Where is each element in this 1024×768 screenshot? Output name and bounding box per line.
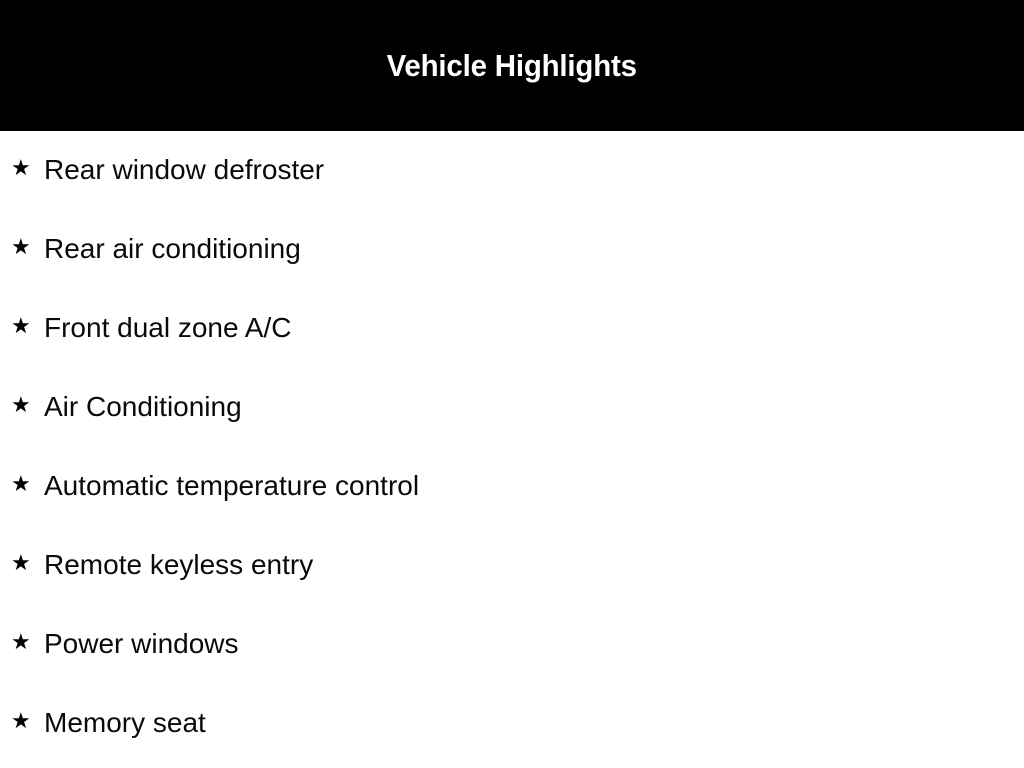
highlight-label: Memory seat [44, 707, 206, 739]
star-icon: ★ [11, 395, 33, 417]
star-icon: ★ [11, 711, 33, 733]
page-header: Vehicle Highlights [0, 0, 1024, 131]
list-item: ★ Memory seat [0, 684, 1024, 763]
highlight-label: Rear air conditioning [44, 233, 301, 265]
highlight-label: Automatic temperature control [44, 470, 419, 502]
star-icon: ★ [11, 474, 33, 496]
star-icon: ★ [11, 237, 33, 259]
star-icon: ★ [11, 158, 33, 180]
list-item: ★ Front dual zone A/C [0, 289, 1024, 368]
list-item: ★ Automatic temperature control [0, 447, 1024, 526]
list-item: ★ Rear air conditioning [0, 210, 1024, 289]
vehicle-highlights-page: Vehicle Highlights ★ Rear window defrost… [0, 0, 1024, 768]
vehicle-highlights-list: ★ Rear window defroster ★ Rear air condi… [0, 131, 1024, 763]
star-icon: ★ [11, 553, 33, 575]
page-title: Vehicle Highlights [387, 50, 637, 81]
highlight-label: Front dual zone A/C [44, 312, 291, 344]
highlight-label: Rear window defroster [44, 154, 324, 186]
highlight-label: Air Conditioning [44, 391, 242, 423]
list-item: ★ Power windows [0, 605, 1024, 684]
list-item: ★ Remote keyless entry [0, 526, 1024, 605]
star-icon: ★ [11, 316, 33, 338]
list-item: ★ Air Conditioning [0, 368, 1024, 447]
highlight-label: Remote keyless entry [44, 549, 313, 581]
star-icon: ★ [11, 632, 33, 654]
highlight-label: Power windows [44, 628, 239, 660]
list-item: ★ Rear window defroster [0, 131, 1024, 210]
